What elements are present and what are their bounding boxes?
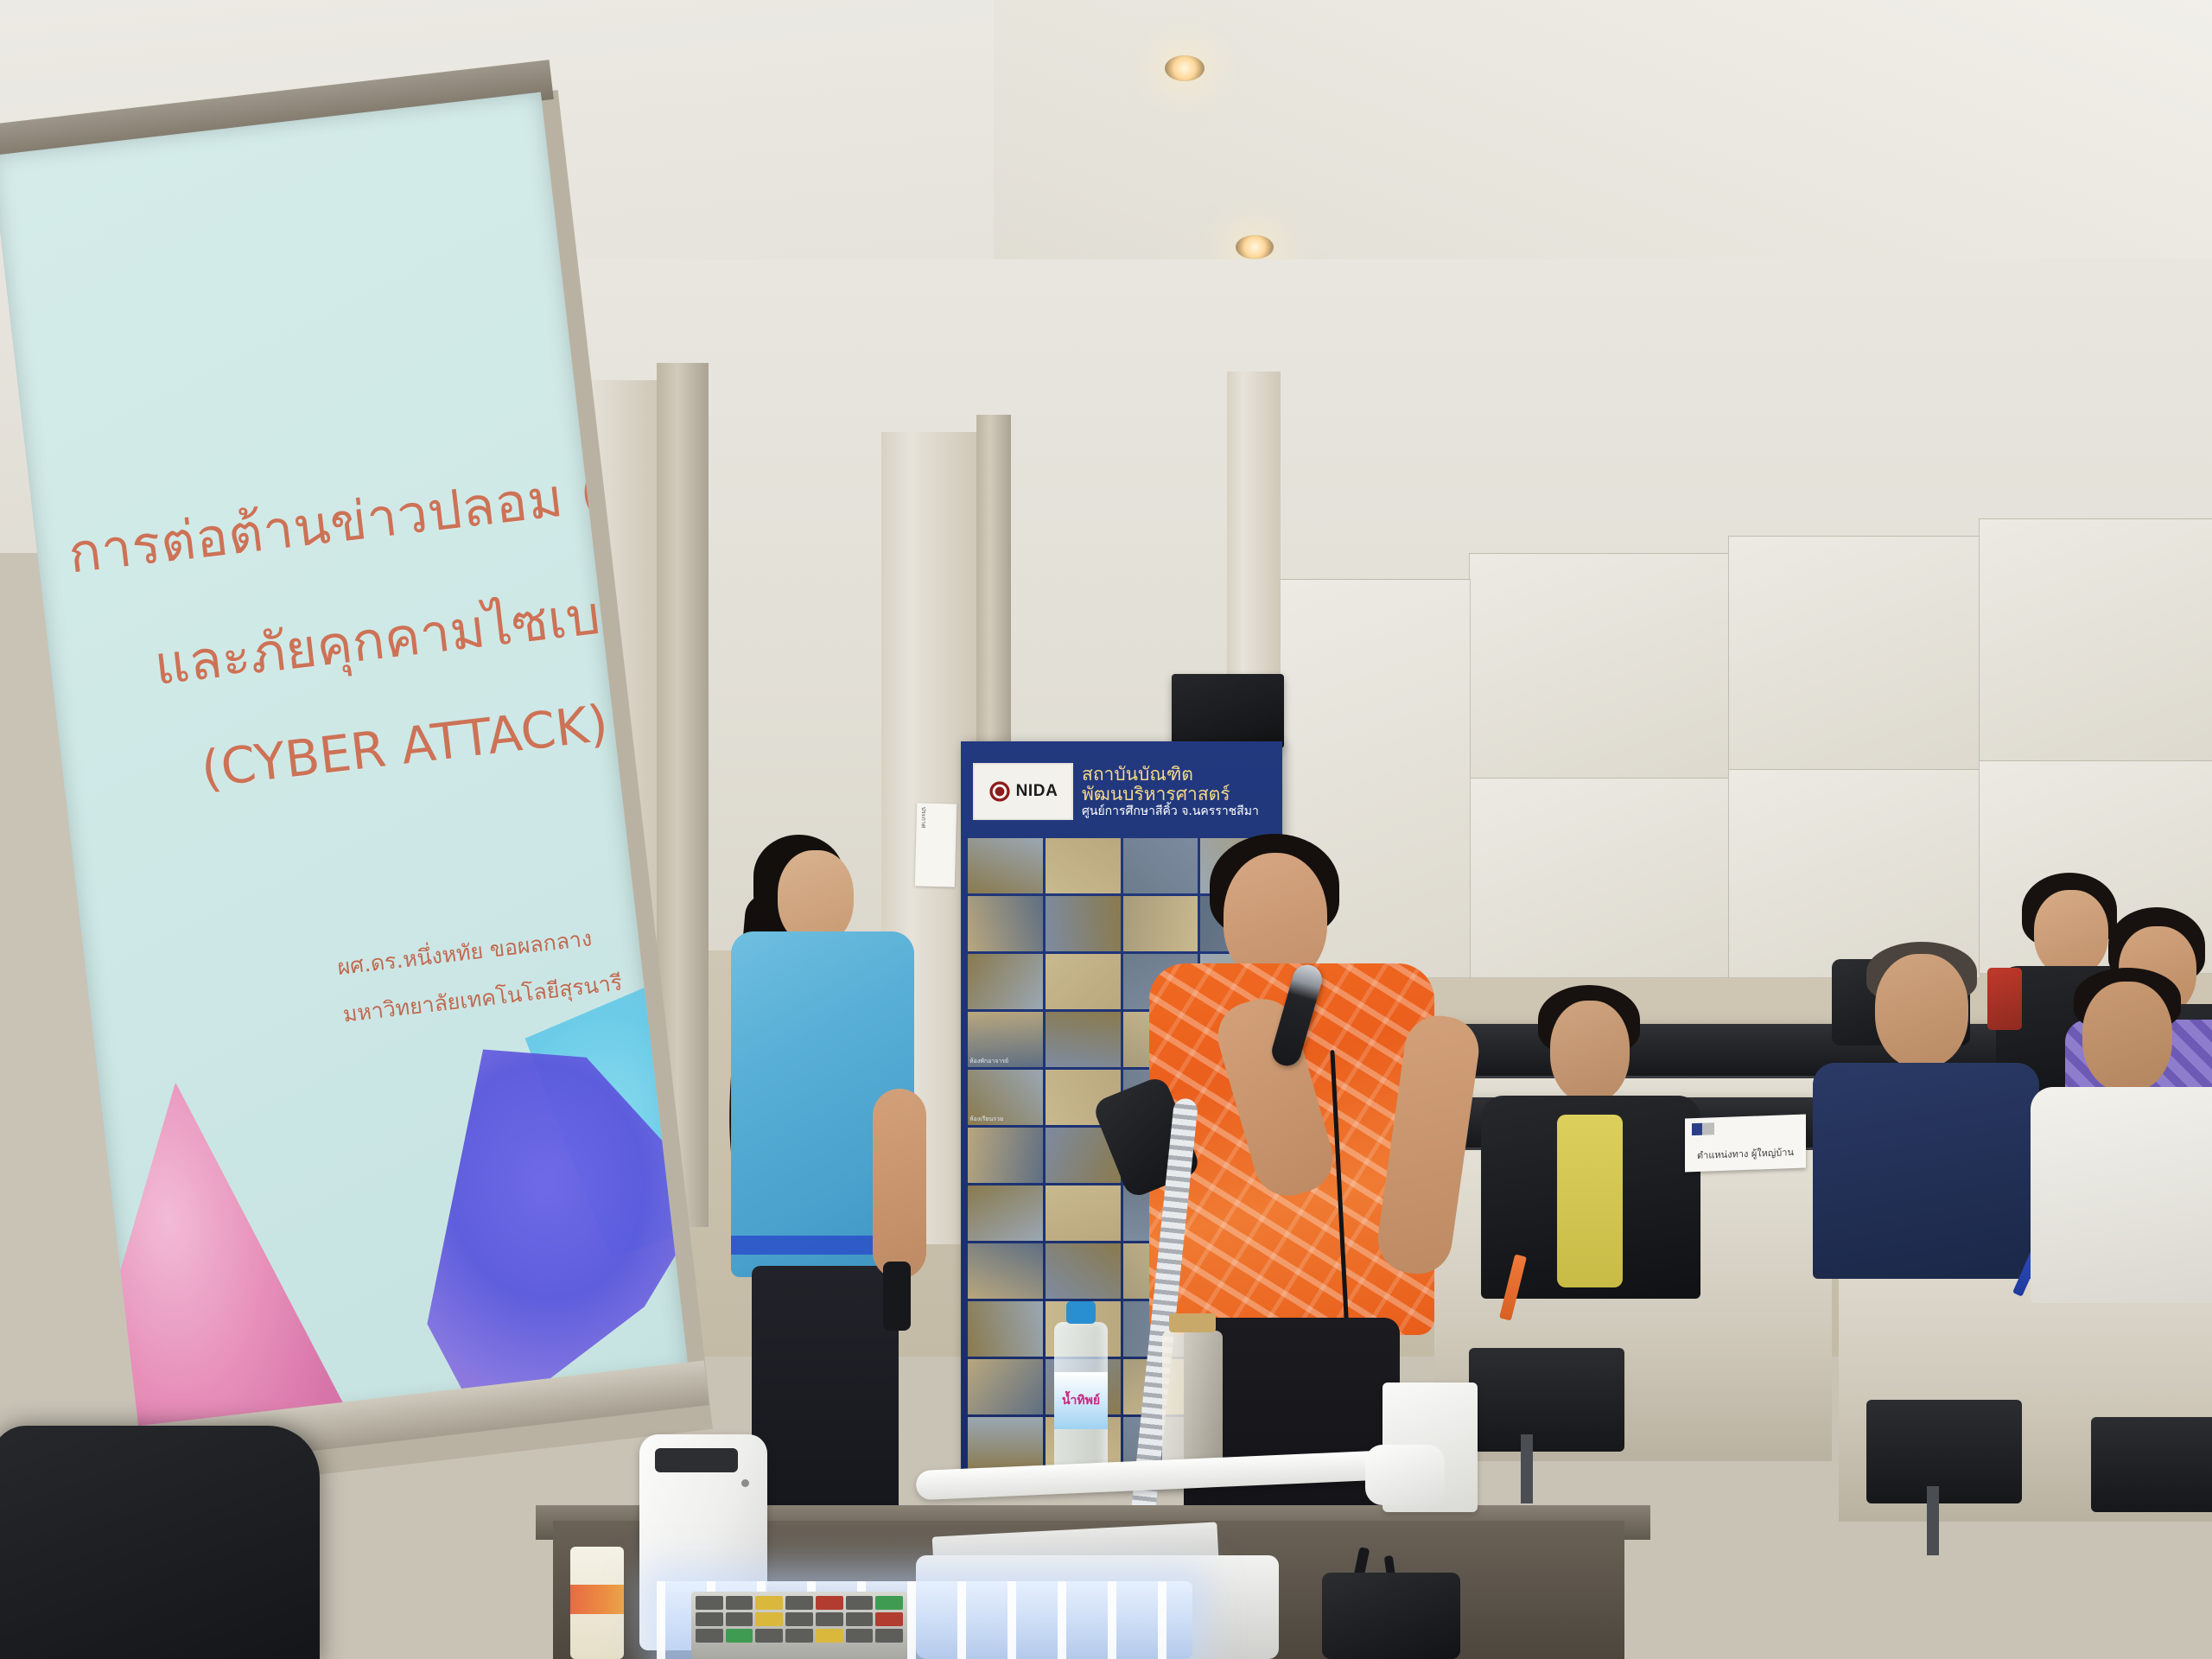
banner-photo [968,1301,1043,1357]
mixer-button[interactable] [696,1596,723,1610]
wall-panel-2 [1728,536,1980,771]
banner-photo [968,1359,1043,1414]
mixer-button[interactable] [726,1612,753,1626]
audience-chair-3 [2091,1417,2212,1512]
banner-photo [1123,838,1198,893]
conference-room-photo: ประกาศ การต่อต้านข่าวปลอม (FAKE NEWS) แล… [0,0,2212,1659]
banner-photo-caption: ห้องเรียนรวม [969,1115,1004,1124]
nida-target-icon [988,780,1011,803]
document-camera-head [1365,1445,1445,1505]
mixer-button[interactable] [726,1629,753,1643]
name-card-text: ตำแหน่งทาง ผู้ใหญ่บ้าน [1697,1144,1794,1163]
mixer-button[interactable] [785,1596,813,1610]
banner-photo [968,896,1043,951]
chair-leg-2 [1927,1486,1939,1555]
mixer-button[interactable] [816,1629,843,1643]
banner-header: NIDA สถาบันบัณฑิตพัฒนบริหารศาสตร์ ศูนย์ก… [961,752,1282,831]
nida-logo: NIDA [973,763,1073,820]
slide-title-line-2: และภัยคุกคามไซเบอร์ [150,566,665,709]
wall-panel-1 [1469,553,1730,779]
torso [2031,1087,2212,1303]
banner-photo [1046,896,1121,951]
handheld-device [883,1262,911,1331]
standing-officer [743,829,942,1512]
mixer-button[interactable] [755,1612,783,1626]
mixer-button[interactable] [846,1629,874,1643]
banner-photo [968,1417,1043,1472]
water-bottle: น้ำทิพย์ [1054,1322,1108,1486]
banner-photo [1046,838,1121,893]
mixer-button[interactable] [755,1629,783,1643]
banner-photo [1046,1243,1121,1299]
audio-mixer-console[interactable] [691,1592,907,1659]
mixer-button[interactable] [846,1612,874,1626]
banner-photo [968,1185,1043,1241]
nida-logo-text: NIDA [1016,782,1058,801]
equipment-case [1322,1573,1460,1659]
mixer-button[interactable] [726,1596,753,1610]
mixer-button[interactable] [816,1596,843,1610]
mixer-button[interactable] [696,1612,723,1626]
jar-cap [1169,1313,1216,1332]
arm [873,1089,926,1279]
foreground-chair [0,1426,320,1659]
mobile-phone [1987,968,2022,1030]
mixer-button[interactable] [846,1596,874,1610]
head [2082,982,2172,1092]
wall-panel-3 [1979,518,2212,762]
banner-photo [1046,1012,1121,1067]
banner-photo: ห้องพักอาจารย์ [968,1012,1043,1067]
mixer-button[interactable] [696,1629,723,1643]
audience-chair-2 [1866,1400,2022,1503]
head [1875,954,1968,1068]
wall-speaker-box [1172,674,1284,748]
table-name-card: ตำแหน่งทาง ผู้ใหญ่บ้าน [1685,1115,1806,1173]
banner-photo: ห้องเรียนรวม [968,1070,1043,1125]
bottle-cap [1066,1301,1096,1324]
head [2034,890,2108,976]
mixer-button[interactable] [816,1612,843,1626]
mixer-button[interactable] [785,1612,813,1626]
tissue-box [570,1547,624,1659]
torso [1813,1063,2039,1279]
ceiling-downlight-warm-2 [1236,235,1274,259]
tissue-box-band [570,1585,624,1614]
banner-org-name: สถาบันบัณฑิตพัฒนบริหารศาสตร์ [1082,765,1282,804]
banner-photo [968,954,1043,1009]
mixer-button[interactable] [875,1596,903,1610]
mixer-button[interactable] [875,1629,903,1643]
banner-photo [1123,896,1198,951]
ceiling-downlight-warm-1 [1165,55,1205,81]
banner-photo [1046,954,1121,1009]
slide-decorative-artwork [68,973,689,1434]
banner-photo [968,1243,1043,1299]
air-purifier-indicator [741,1479,749,1487]
slide-art-pink-shape [68,1065,375,1434]
slide-title-line-1: การต่อต้านข่าวปลอม (FAKE NEWS) [64,412,689,596]
banner-photo [968,1128,1043,1183]
slide-title-line-3: (CYBER ATTACK) [198,694,611,799]
banner-photo-caption: ห้องพักอาจารย์ [969,1057,1008,1066]
mixer-button[interactable] [785,1629,813,1643]
bottle-brand-text: น้ำทิพย์ [1062,1391,1100,1410]
mixer-button[interactable] [875,1612,903,1626]
air-purifier-grill [655,1448,738,1472]
mixer-button[interactable] [755,1596,783,1610]
banner-photo [968,838,1043,893]
banner-photo [1046,1185,1121,1241]
head [1550,1001,1630,1103]
bottle-label: น้ำทิพย์ [1054,1372,1108,1429]
inner-shirt [1557,1115,1623,1287]
banner-center-name: ศูนย์การศึกษาสีคิ้ว จ.นครราชสีมา [1082,804,1282,819]
